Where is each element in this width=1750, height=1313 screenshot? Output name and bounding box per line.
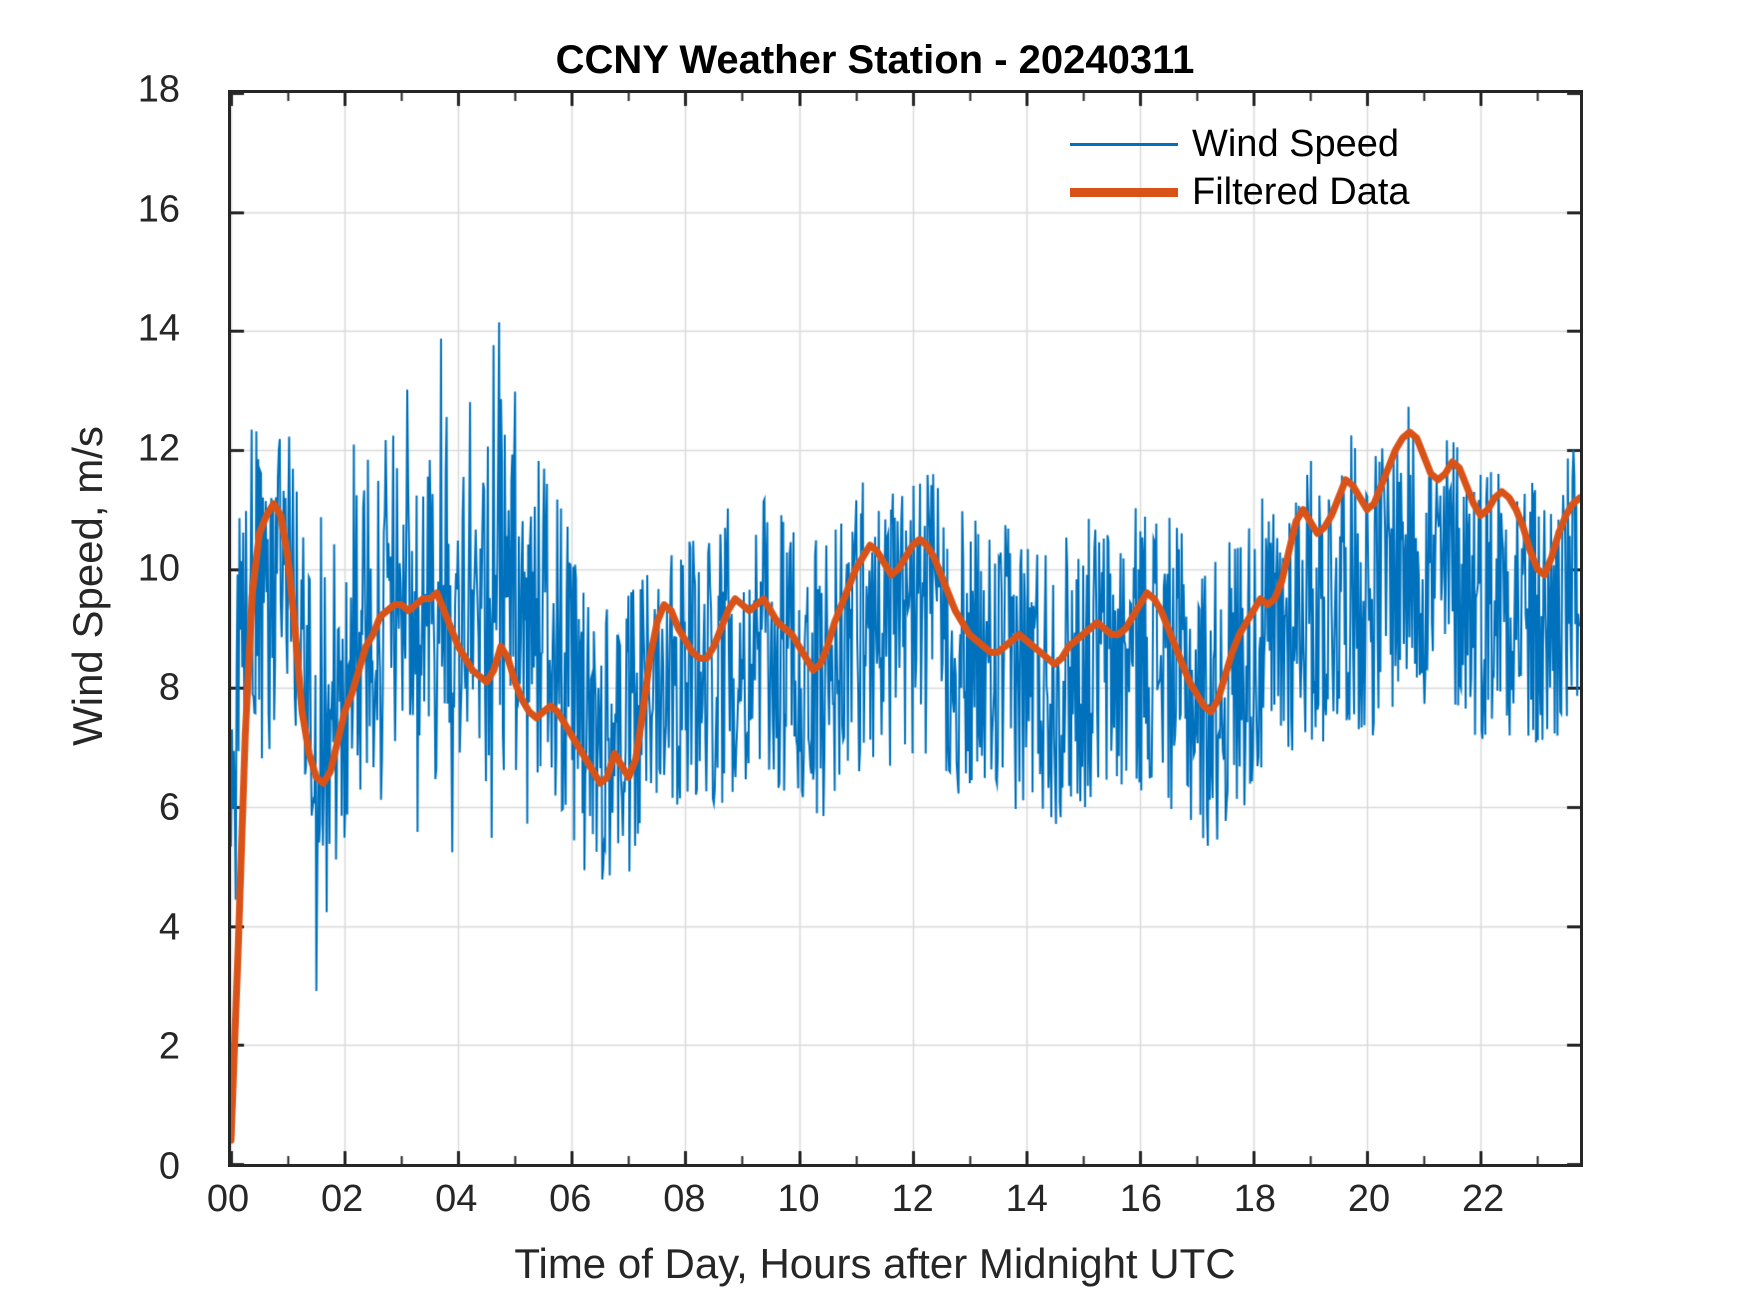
x-tick-label: 00 [168, 1178, 288, 1221]
chart-canvas [231, 93, 1580, 1164]
legend-item-filtered-data[interactable]: Filtered Data [1070, 168, 1490, 216]
y-axis-label: Wind Speed, m/s [64, 236, 112, 936]
y-tick-label: 0 [0, 1146, 180, 1189]
x-tick-label: 02 [282, 1178, 402, 1221]
legend-item-wind-speed[interactable]: Wind Speed [1070, 120, 1490, 168]
page-title: CCNY Weather Station - 20240311 [0, 38, 1750, 83]
x-tick-label: 20 [1309, 1178, 1429, 1221]
x-tick-label: 06 [510, 1178, 630, 1221]
y-tick-label: 18 [0, 69, 180, 112]
x-tick-label: 10 [739, 1178, 859, 1221]
y-tick-label: 16 [0, 188, 180, 231]
y-tick-label: 2 [0, 1026, 180, 1069]
x-tick-label: 12 [853, 1178, 973, 1221]
x-tick-label: 14 [967, 1178, 1087, 1221]
plot-area [228, 90, 1583, 1167]
x-tick-label: 22 [1423, 1178, 1543, 1221]
x-tick-label: 16 [1081, 1178, 1201, 1221]
x-tick-label: 08 [624, 1178, 744, 1221]
legend-label-wind-speed: Wind Speed [1192, 123, 1399, 166]
legend-label-filtered-data: Filtered Data [1192, 171, 1410, 214]
x-tick-label: 04 [396, 1178, 516, 1221]
x-axis-label: Time of Day, Hours after Midnight UTC [0, 1240, 1750, 1288]
x-tick-label: 18 [1195, 1178, 1315, 1221]
chart-legend: Wind Speed Filtered Data [1070, 120, 1490, 216]
chart-page: CCNY Weather Station - 20240311 02468101… [0, 0, 1750, 1313]
